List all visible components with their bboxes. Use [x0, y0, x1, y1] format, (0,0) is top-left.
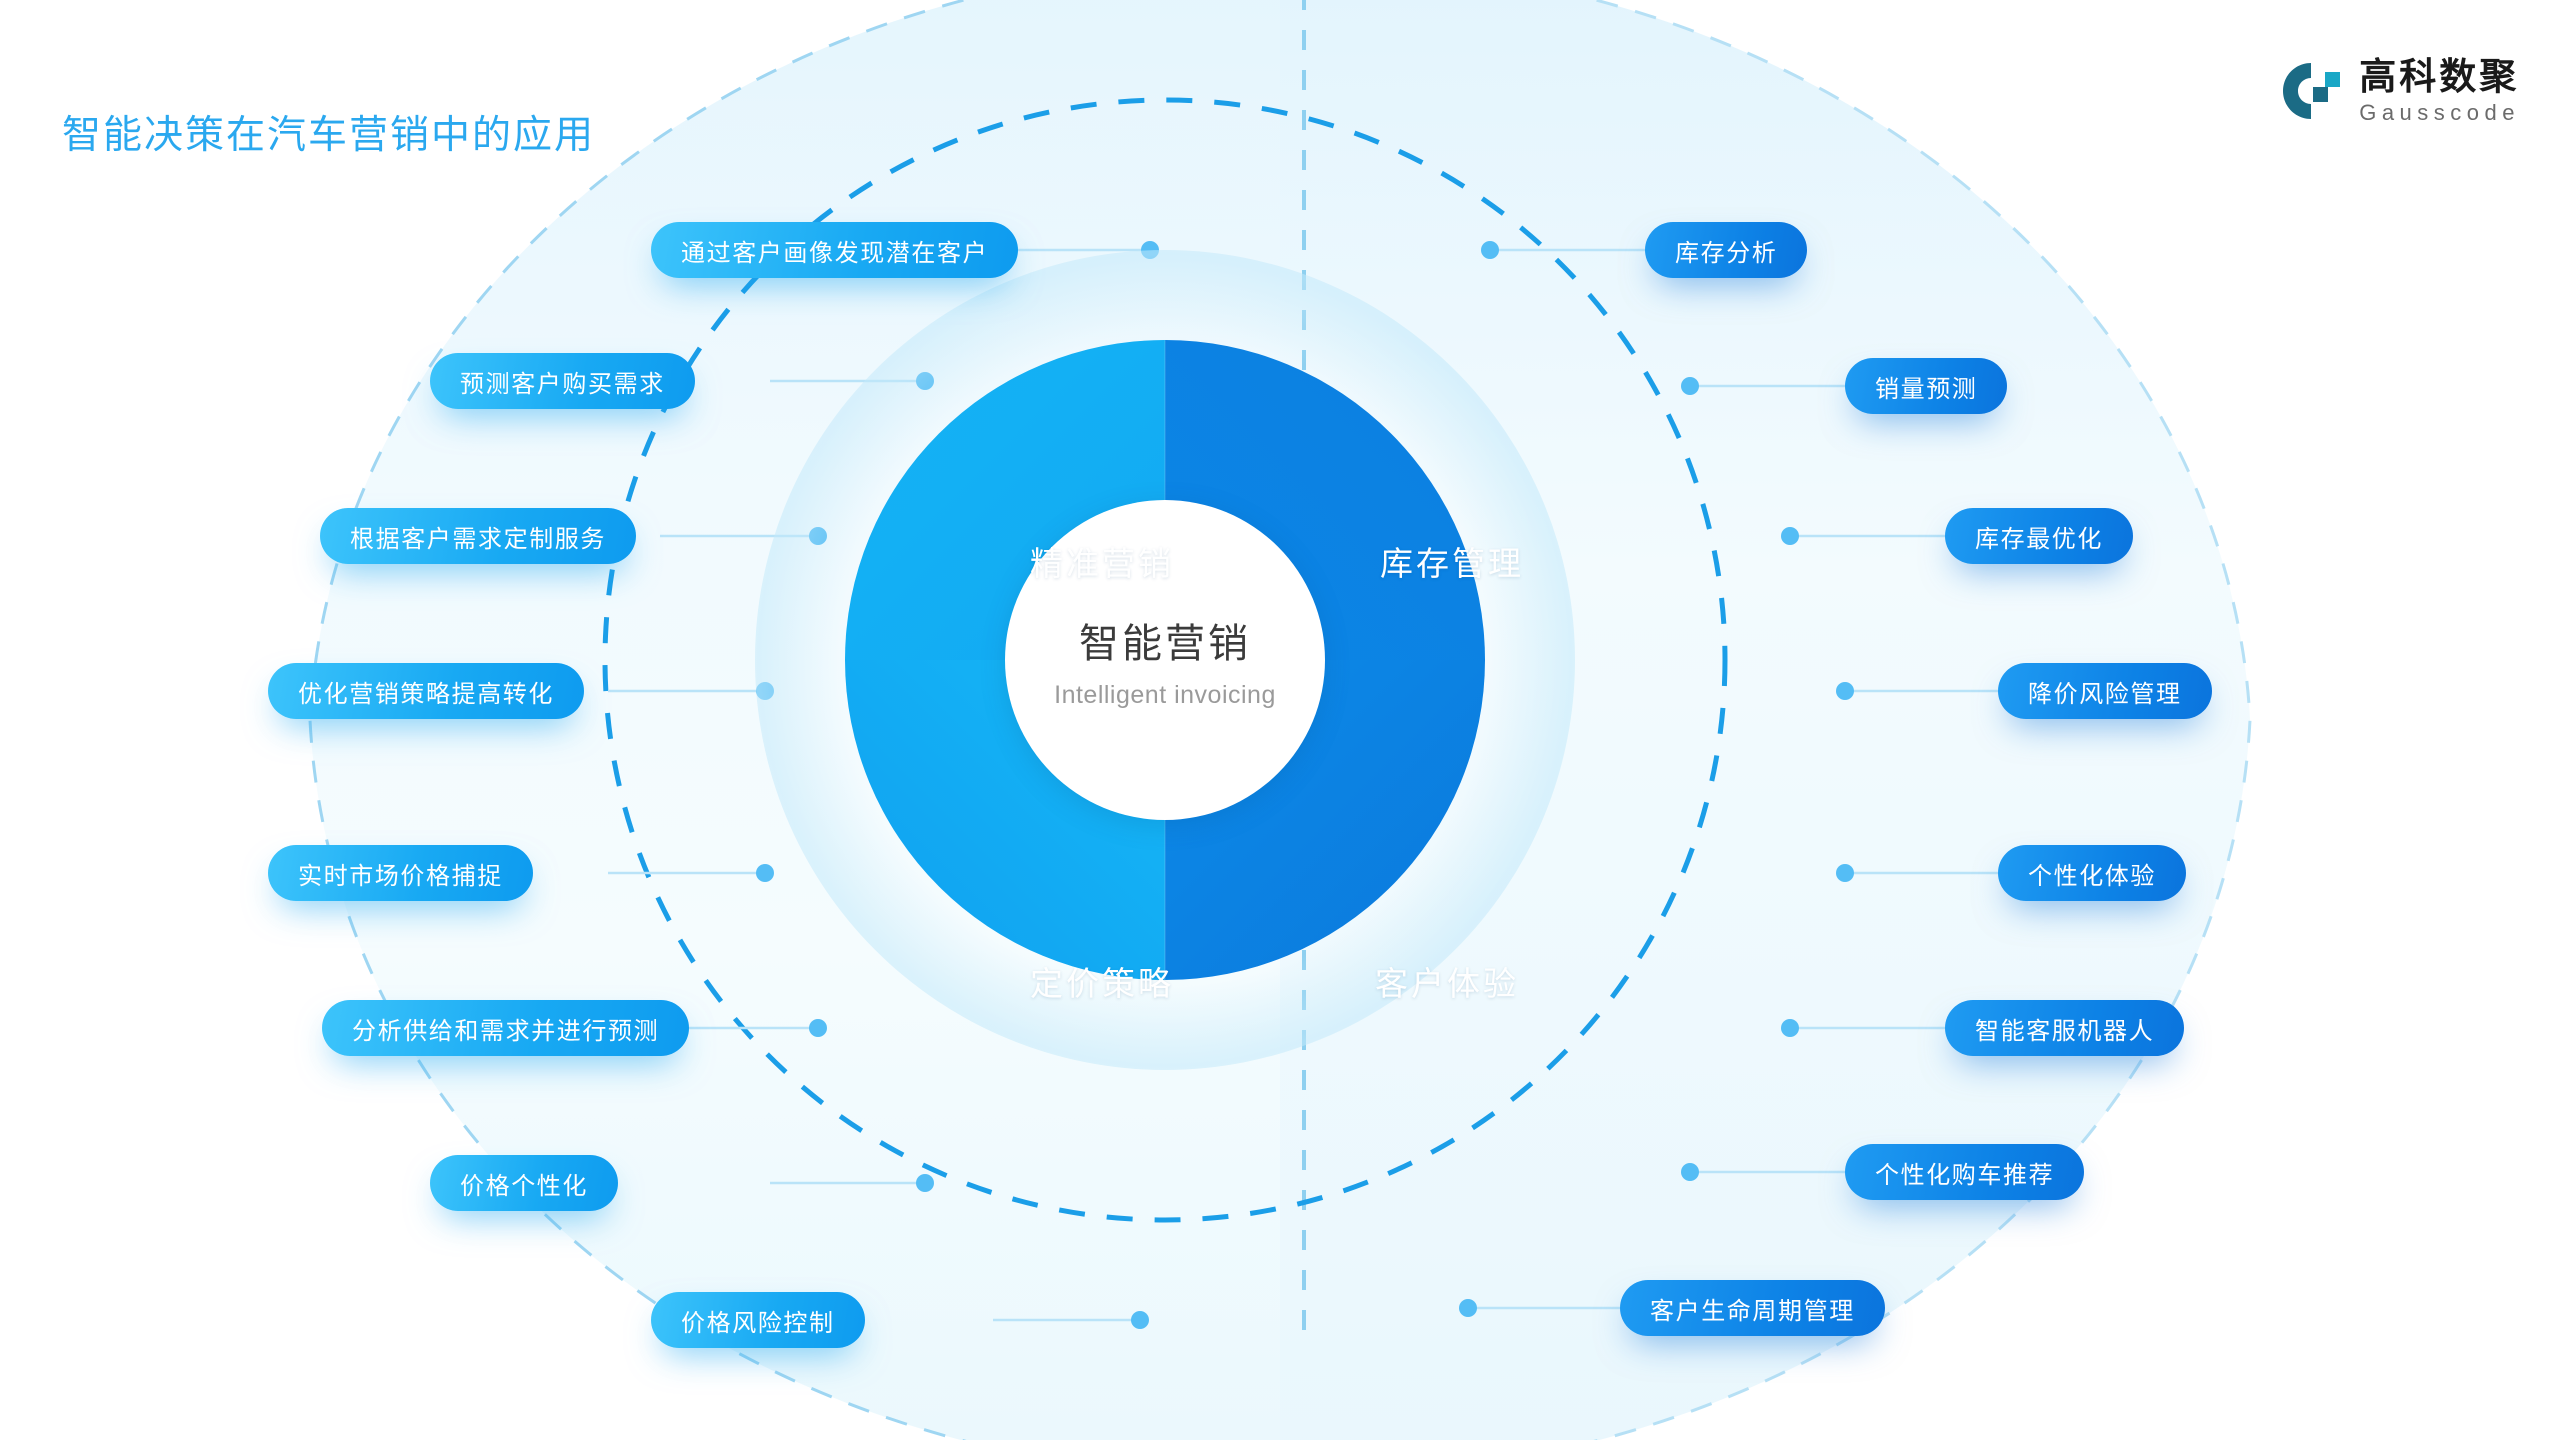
right-item-pill-7[interactable]: 个性化购车推荐: [1845, 1144, 2084, 1200]
connector-dot-left-6: [809, 1019, 827, 1037]
connector-dot-right-6: [1781, 1019, 1799, 1037]
connector-dot-right-2: [1681, 377, 1699, 395]
right-item-pill-3[interactable]: 库存最优化: [1945, 508, 2133, 564]
hub-subtitle: Intelligent invoicing: [1054, 681, 1276, 710]
connector-dot-left-7: [916, 1174, 934, 1192]
connector-dot-right-3: [1781, 527, 1799, 545]
left-item-pill-5[interactable]: 实时市场价格捕捉: [268, 845, 533, 901]
left-item-pill-3[interactable]: 根据客户需求定制服务: [320, 508, 636, 564]
left-item-pill-8[interactable]: 价格风险控制: [651, 1292, 865, 1348]
connector-dot-right-5: [1836, 864, 1854, 882]
connector-dot-right-4: [1836, 682, 1854, 700]
logo-text-cn: 高科数聚: [2359, 58, 2520, 95]
left-item-pill-6[interactable]: 分析供给和需求并进行预测: [322, 1000, 689, 1056]
right-item-pill-4[interactable]: 降价风险管理: [1998, 663, 2212, 719]
connector-dot-right-8: [1459, 1299, 1477, 1317]
left-item-pill-7[interactable]: 价格个性化: [430, 1155, 618, 1211]
right-item-pill-2[interactable]: 销量预测: [1845, 358, 2007, 414]
right-item-pill-1[interactable]: 库存分析: [1645, 222, 1807, 278]
logo-text-en: Gausscode: [2359, 102, 2520, 124]
hub-title: 智能营销: [1079, 611, 1251, 669]
brand-logo: 高科数聚 Gausscode: [2279, 58, 2520, 124]
quadrant-label-top-right: 库存管理: [1380, 537, 1524, 585]
quadrant-label-bottom-left: 定价策略: [1030, 957, 1174, 1005]
connector-dot-right-7: [1681, 1163, 1699, 1181]
right-item-pill-8[interactable]: 客户生命周期管理: [1620, 1280, 1885, 1336]
connector-dot-right-1: [1481, 241, 1499, 259]
slide-canvas: 智能决策在汽车营销中的应用 高科数聚 Gausscode: [0, 0, 2560, 1440]
left-item-pill-1[interactable]: 通过客户画像发现潜在客户: [651, 222, 1018, 278]
right-item-pill-6[interactable]: 智能客服机器人: [1945, 1000, 2184, 1056]
page-title: 智能决策在汽车营销中的应用: [62, 104, 595, 160]
gausscode-logo-icon: [2279, 59, 2343, 123]
left-item-pill-2[interactable]: 预测客户购买需求: [430, 353, 695, 409]
right-item-pill-5[interactable]: 个性化体验: [1998, 845, 2186, 901]
central-donut: 智能营销 Intelligent invoicing: [845, 340, 1485, 980]
quadrant-label-top-left: 精准营销: [1030, 537, 1174, 585]
connector-dot-left-5: [756, 864, 774, 882]
quadrant-label-bottom-right: 客户体验: [1375, 957, 1519, 1005]
left-item-pill-4[interactable]: 优化营销策略提高转化: [268, 663, 584, 719]
connector-dot-left-8: [1131, 1311, 1149, 1329]
